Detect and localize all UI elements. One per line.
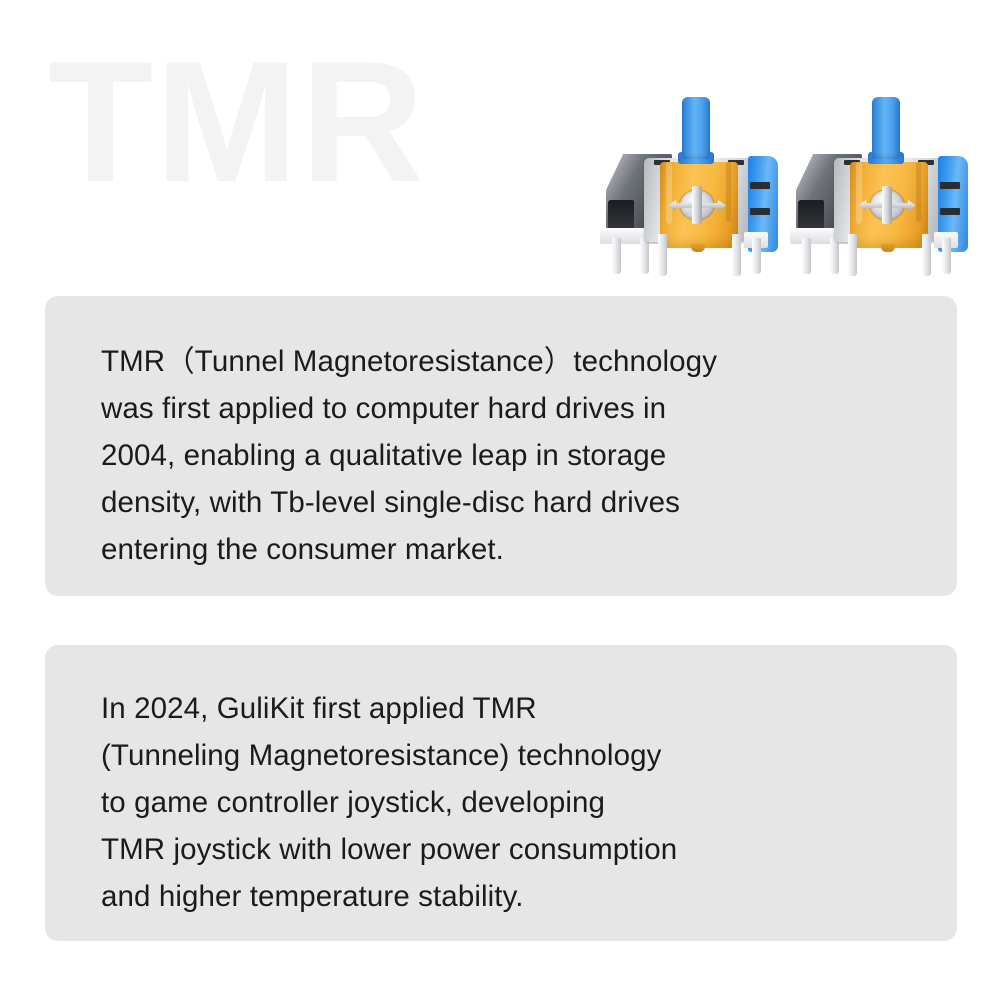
tab-slot-icon bbox=[940, 182, 960, 189]
info-card-gulikit-joystick-text: In 2024, GuliKit first applied TMR (Tunn… bbox=[101, 685, 901, 920]
info-card-gulikit-joystick: In 2024, GuliKit first applied TMR (Tunn… bbox=[45, 645, 957, 941]
joystick-body-foot-icon bbox=[881, 244, 895, 252]
joystick-pin-icon bbox=[848, 234, 857, 276]
page-title-watermark: TMR bbox=[48, 36, 427, 208]
tab-slot-icon bbox=[750, 208, 770, 215]
joystick-hub-cross-vertical-icon bbox=[882, 186, 892, 224]
tab-slot-icon bbox=[750, 182, 770, 189]
info-card-tmr-history-text: TMR（Tunnel Magnetoresistance）technology … bbox=[101, 338, 901, 573]
joystick-pin-icon bbox=[942, 238, 951, 274]
joystick-stem-icon bbox=[872, 97, 900, 159]
joystick-hub-cross-vertical-icon bbox=[692, 186, 702, 224]
joystick-illustration bbox=[596, 92, 996, 277]
joystick-pin-icon bbox=[802, 238, 811, 274]
joystick-pin-icon bbox=[612, 238, 621, 274]
joystick-pin-icon bbox=[830, 238, 839, 274]
joystick-module-left bbox=[596, 92, 786, 277]
joystick-pin-icon bbox=[658, 234, 667, 276]
tab-slot-icon bbox=[940, 208, 960, 215]
joystick-body-foot-icon bbox=[691, 244, 705, 252]
info-card-tmr-history: TMR（Tunnel Magnetoresistance）technology … bbox=[45, 296, 957, 596]
joystick-pin-icon bbox=[732, 234, 741, 276]
joystick-pin-icon bbox=[640, 238, 649, 274]
joystick-module-right bbox=[786, 92, 976, 277]
joystick-pin-icon bbox=[752, 238, 761, 274]
joystick-stem-icon bbox=[682, 97, 710, 159]
joystick-pin-icon bbox=[922, 234, 931, 276]
